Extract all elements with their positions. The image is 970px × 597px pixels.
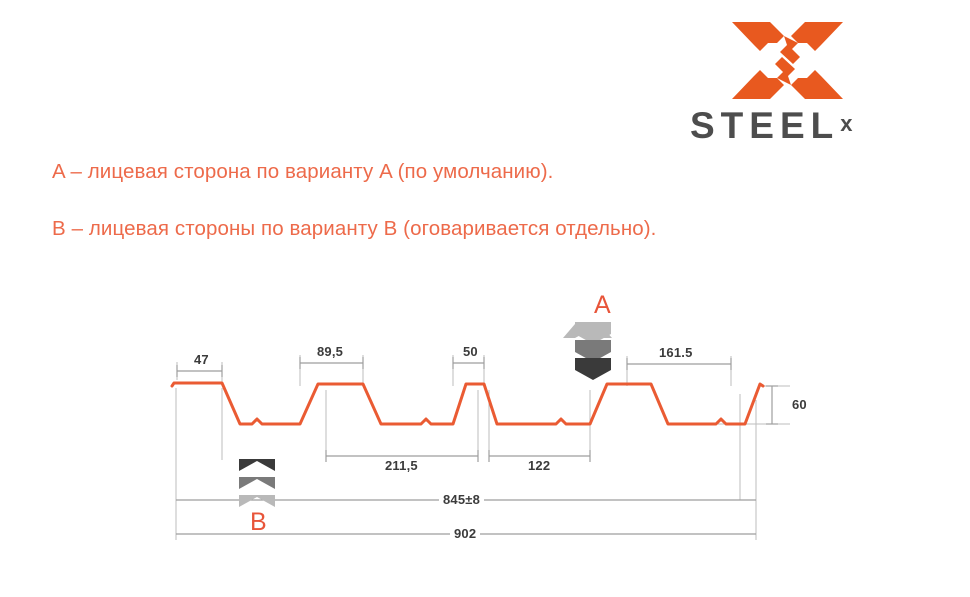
- dim-label-122: 122: [524, 458, 554, 473]
- profile-outline: [172, 383, 763, 424]
- dim-label-89-5: 89,5: [313, 344, 347, 359]
- dim-label-50: 50: [459, 344, 482, 359]
- marker-letter-a: A: [594, 291, 611, 320]
- dim-label-161-5: 161.5: [655, 345, 697, 360]
- dim-label-60: 60: [788, 397, 811, 412]
- marker-letter-b: B: [250, 508, 267, 537]
- marker-a-chevrons: [563, 322, 612, 380]
- dim-label-845: 845±8: [439, 492, 484, 507]
- dim-label-902: 902: [450, 526, 480, 541]
- drawing-page: STEEL x A – лицевая сторона по варианту …: [0, 0, 970, 597]
- dim-label-47: 47: [190, 352, 213, 367]
- profile-cross-section-drawing: [0, 0, 970, 597]
- dim-label-211-5: 211,5: [381, 458, 422, 473]
